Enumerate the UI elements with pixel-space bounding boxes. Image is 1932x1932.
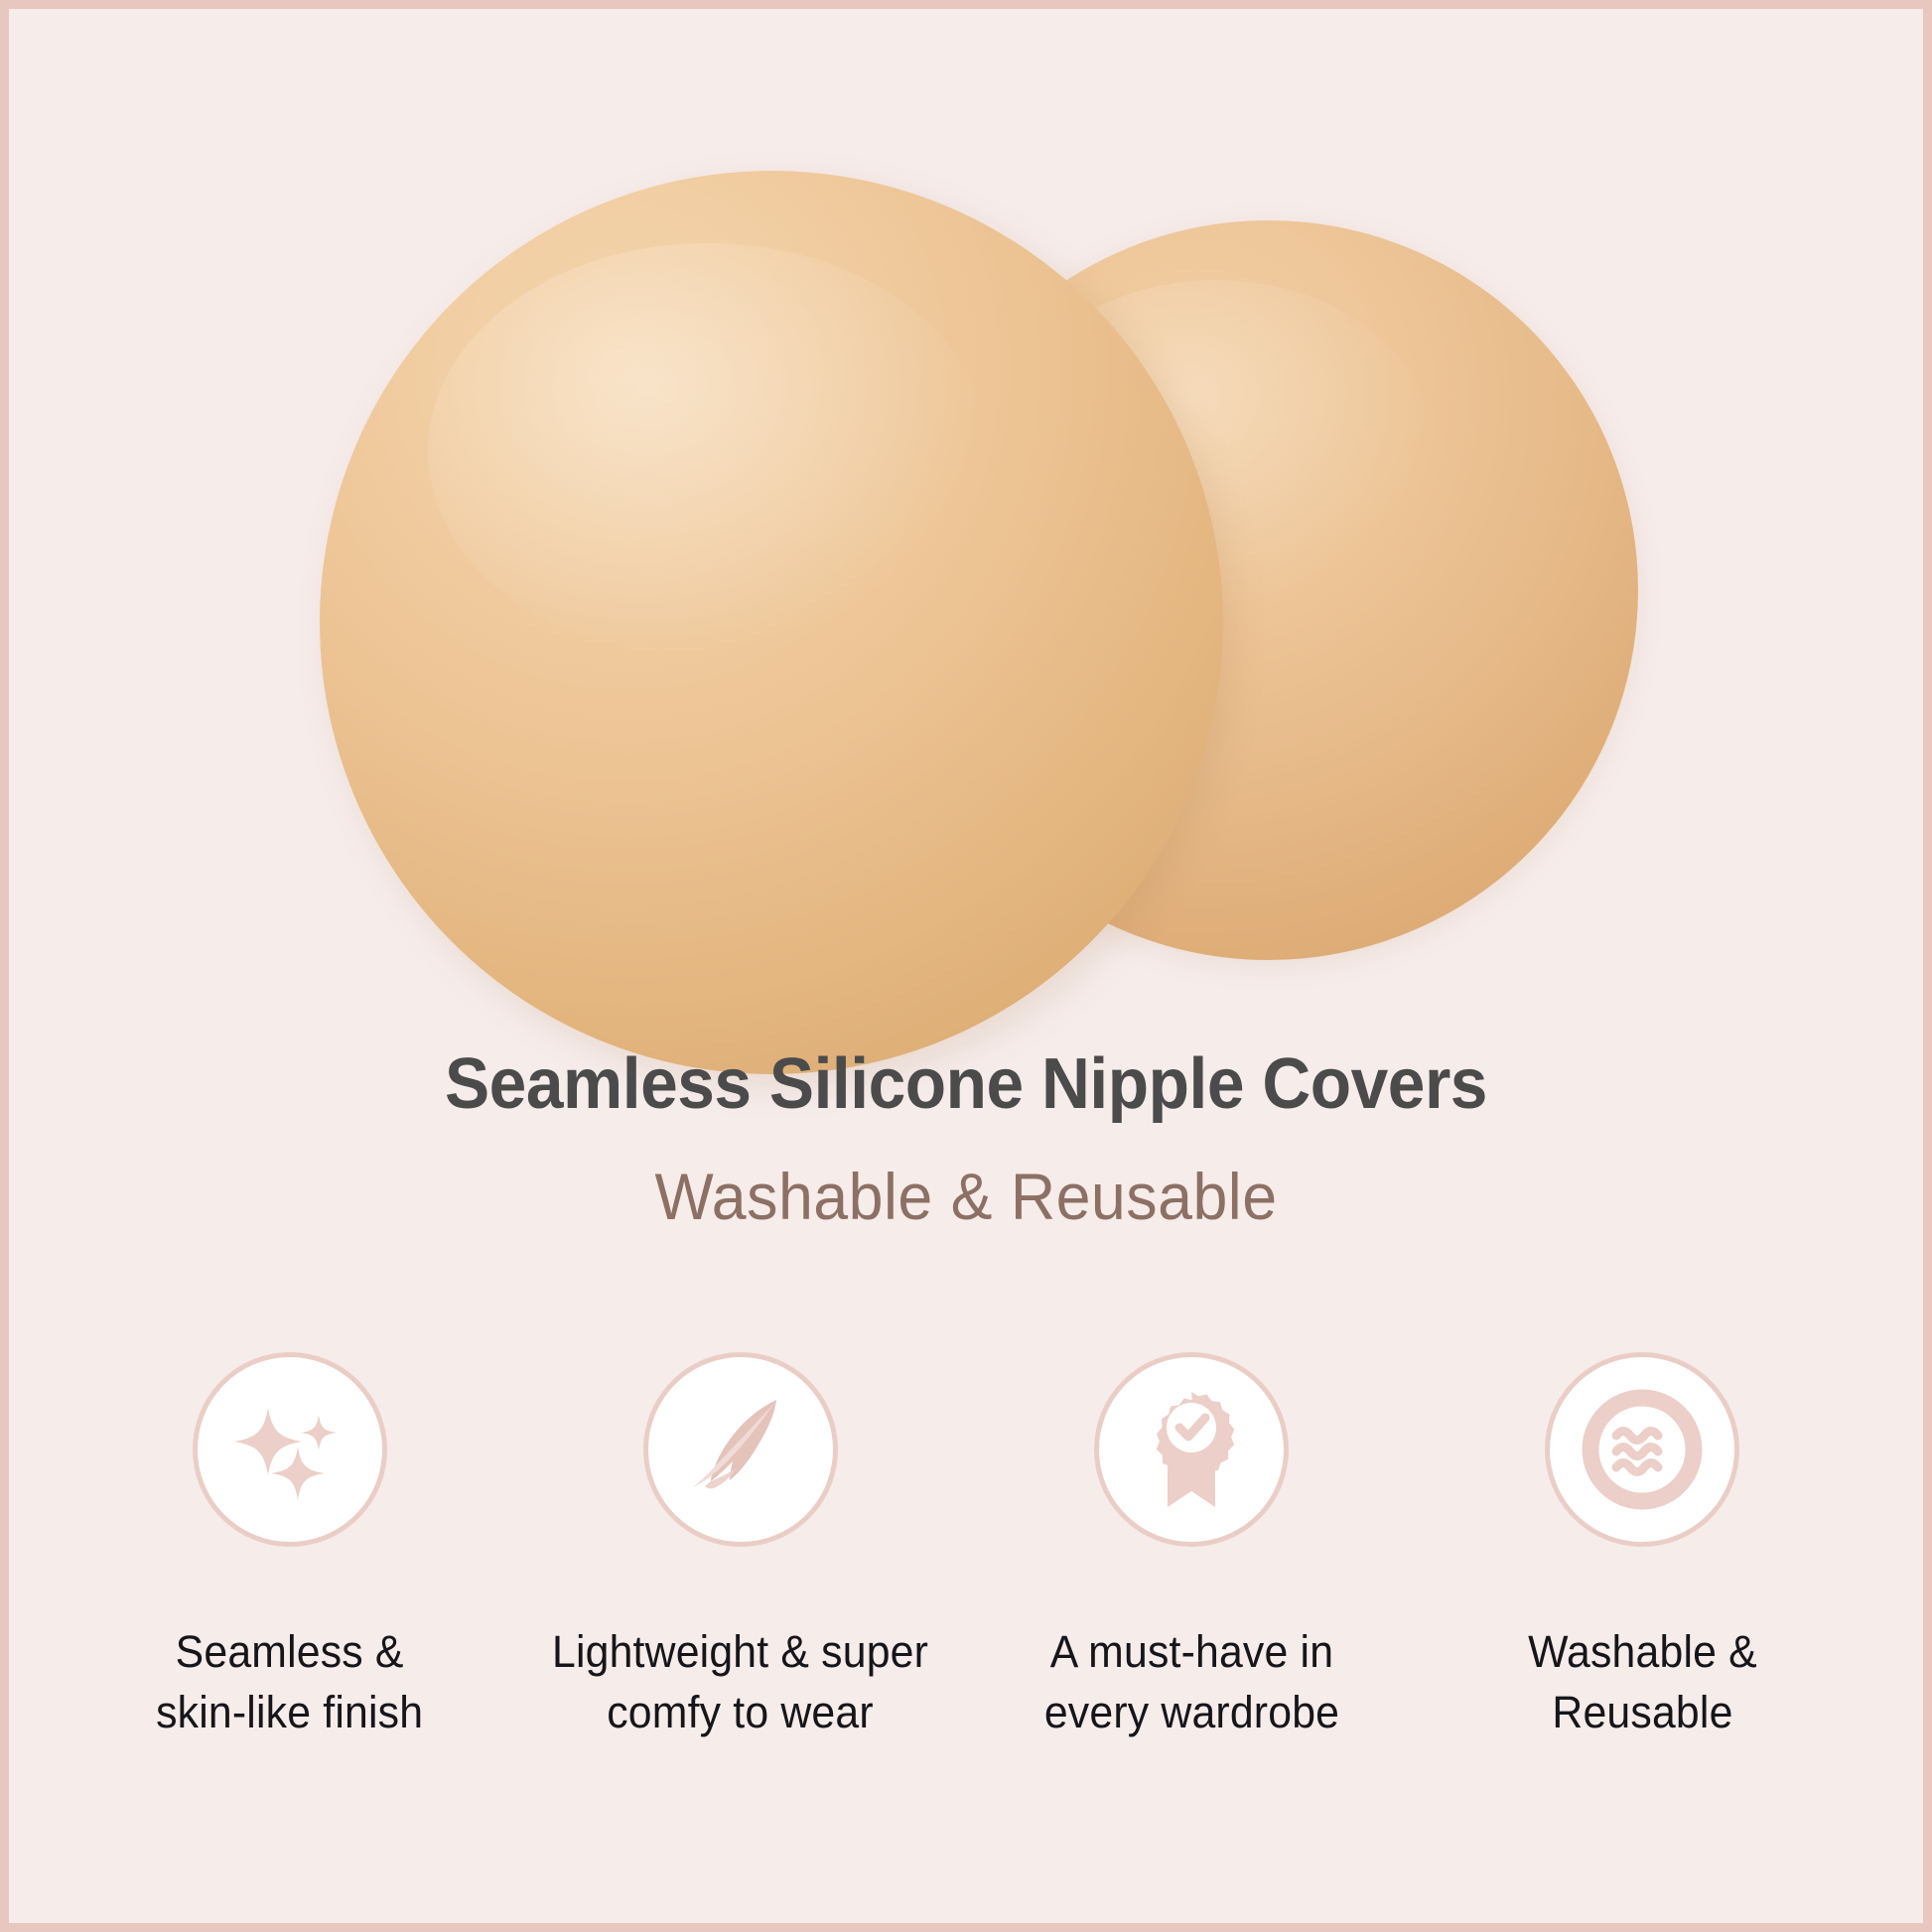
award-badge-check-icon <box>1136 1388 1247 1511</box>
feature-label: A must-have in every wardrobe <box>1043 1622 1338 1743</box>
wash-waves-icon <box>1579 1386 1706 1513</box>
feature-label: Washable & Reusable <box>1528 1622 1757 1743</box>
feature-icon-badge <box>193 1352 387 1547</box>
feature-list: Seamless & skin-like finish Lightweight … <box>81 1352 1851 1743</box>
feature-item-washable: Washable & Reusable <box>1434 1352 1851 1743</box>
feather-icon <box>681 1390 800 1509</box>
feature-icon-badge <box>643 1352 838 1547</box>
nipple-cover-disc-front <box>320 171 1223 1074</box>
feature-icon-badge <box>1545 1352 1739 1547</box>
sparkles-icon <box>231 1391 348 1508</box>
product-infographic: Seamless Silicone Nipple Covers Washable… <box>0 0 1932 1932</box>
page-title: Seamless Silicone Nipple Covers <box>58 1047 1873 1123</box>
feature-item-must-have: A must-have in every wardrobe <box>983 1352 1400 1743</box>
feature-item-lightweight: Lightweight & super comfy to wear <box>532 1352 949 1743</box>
page-subtitle: Washable & Reusable <box>49 1163 1884 1231</box>
feature-icon-badge <box>1094 1352 1289 1547</box>
hero-product-image <box>0 0 1932 1033</box>
feature-item-seamless: Seamless & skin-like finish <box>81 1352 498 1743</box>
feature-label: Lightweight & super comfy to wear <box>552 1622 928 1743</box>
heading-block: Seamless Silicone Nipple Covers Washable… <box>0 1047 1932 1231</box>
feature-label: Seamless & skin-like finish <box>156 1622 423 1743</box>
